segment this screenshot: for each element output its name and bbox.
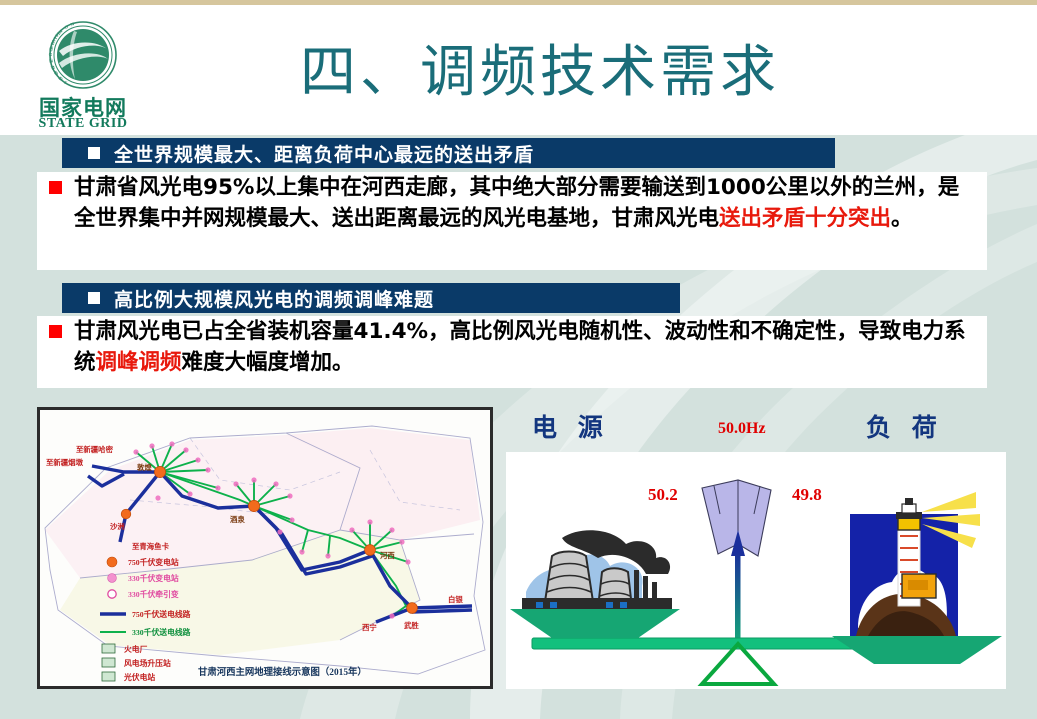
balance-post [735,552,741,640]
legend-label-3: 750千伏送电线路 [132,609,191,619]
legend-icon-pv [102,672,115,681]
map-label-jiuquan: 酒泉 [230,515,245,524]
legend-label-1: 330千伏变电站 [128,573,179,583]
balance-source-label: 电 源 [532,408,609,444]
map-label-hexi: 河西 [380,551,395,560]
balance-load-label: 负 荷 [866,408,943,444]
legend-label-7: 光伏电站 [123,672,155,682]
svg-text:N: N [70,21,76,27]
content-box-2: 甘肃风光电已占全省装机容量41.4%，高比例风光电随机性、波动性和不确定性，导致… [37,316,987,388]
page-title: 四、调频技术需求 [300,34,920,112]
legend-label-4: 330千伏送电线路 [132,627,191,637]
content-text-1: 甘肃省风光电95%以上集中在河西走廊，其中绝大部分需要输送到1000公里以外的兰… [74,172,987,234]
red-bullet-square-icon [49,325,62,338]
balance-frequency-center: 50.0Hz [718,420,766,438]
power-balance-diagram: 50.2 49.8 [506,452,1006,689]
legend-label-0: 750千伏变电站 [128,557,179,567]
section-header-label-1: 全世界规模最大、距离负荷中心最远的送出矛盾 [114,140,534,167]
frequency-low-value: 49.8 [792,485,822,504]
legend-label-2: 330千伏牵引变 [128,589,179,599]
map-graphic: 至新疆哈密 至新疆烟墩 敦煌 沙洲 至青海鱼卡 酒泉 河西 西宁 武胜 白银 7… [40,410,490,686]
logo-name-en: STATE GRID [30,116,136,132]
state-grid-logo: S T A T E G R I D C O R P O R A T I O N … [30,16,136,136]
map-label-baiyin: 白银 [448,595,463,604]
map-label-xining: 西宁 [362,623,377,632]
legend-icon-wind [102,658,115,667]
balance-scale-graphic: 50.2 49.8 [506,452,1006,689]
map-caption: 甘肃河西主网地理接线示意图（2015年） [198,666,367,678]
section-bullet-square-icon [88,292,100,304]
balance-labels: 电 源 50.0Hz 负 荷 [500,408,1037,450]
legend-label-5: 火电厂 [124,644,148,654]
map-label-hami: 至新疆哈密 [76,445,114,454]
section-header-label-2: 高比例大规模风光电的调频调峰难题 [114,285,434,312]
section-bullet-square-icon [88,147,100,159]
legend-icon-plant [102,644,115,653]
map-label-yandun: 至新疆烟墩 [46,458,84,467]
red-bullet-square-icon [49,181,62,194]
svg-text:O: O [48,52,53,56]
gansu-hexi-grid-map: 至新疆哈密 至新疆烟墩 敦煌 沙洲 至青海鱼卡 酒泉 河西 西宁 武胜 白银 7… [37,407,493,689]
map-label-dunhuang: 敦煌 [137,463,152,472]
map-label-shazhou: 沙洲 [110,522,125,531]
globe-icon: S T A T E G R I D C O R P O R A T I O N [46,18,120,92]
section-header-bar-1: 全世界规模最大、距离负荷中心最远的送出矛盾 [62,138,835,168]
content-text-2: 甘肃风光电已占全省装机容量41.4%，高比例风光电随机性、波动性和不确定性，导致… [74,316,987,378]
map-label-yuka: 至青海鱼卡 [132,542,170,551]
section-header-bar-2: 高比例大规模风光电的调频调峰难题 [62,283,680,313]
legend-icon-pink-ring [108,590,116,598]
map-label-wusheng: 武胜 [404,621,419,630]
content-box-1: 甘肃省风光电95%以上集中在河西走廊，其中绝大部分需要输送到1000公里以外的兰… [37,172,987,270]
legend-icon-pink-dot [108,574,117,583]
legend-label-6: 风电场升压站 [124,658,171,668]
legend-icon-orange-dot [107,557,117,567]
frequency-high-value: 50.2 [648,485,678,504]
